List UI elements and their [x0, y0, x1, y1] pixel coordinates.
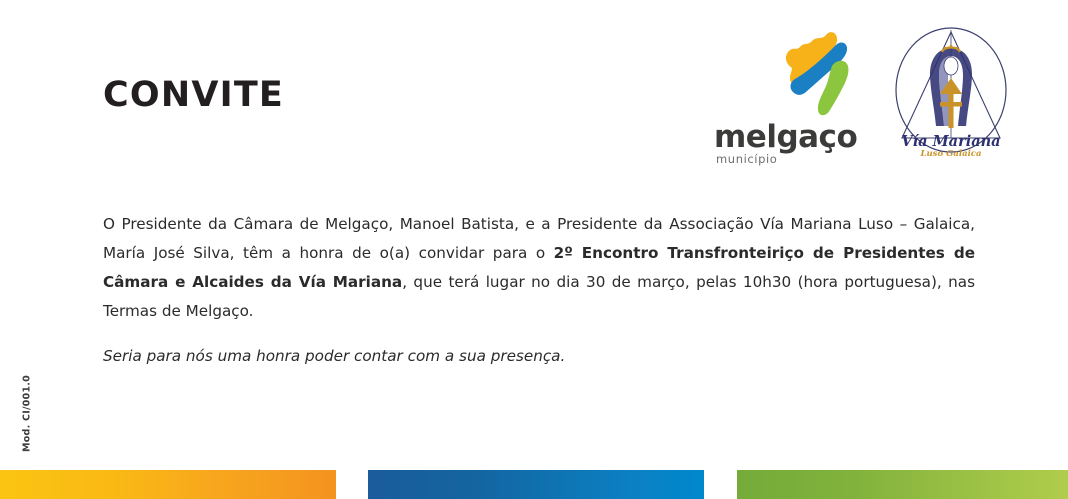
via-mariana-emblem-icon: Vía Mariana Luso Galaica [892, 26, 1010, 159]
via-mariana-wordmark: Vía Mariana [901, 133, 1000, 150]
melgaco-subtitle: município [716, 154, 777, 166]
footer-bar-blue [368, 470, 704, 499]
invitation-paragraph-1: O Presidente da Câmara de Melgaço, Manoe… [103, 210, 975, 326]
melgaco-wordmark: melgaço [714, 122, 857, 153]
invitation-page: CONVITE melgaço município [0, 0, 1068, 499]
logo-row: melgaço município [714, 26, 1010, 159]
invitation-body: O Presidente da Câmara de Melgaço, Manoe… [103, 210, 975, 371]
via-mariana-subtitle: Luso Galaica [920, 149, 982, 159]
invitation-paragraph-2: Seria para nós uma honra poder contar co… [103, 342, 975, 371]
footer-bar-green [737, 470, 1068, 499]
footer-bar-yellow-orange [0, 470, 336, 499]
melgaco-municipality-logo: melgaço município [714, 26, 864, 154]
melgaco-map-icon [762, 26, 864, 131]
via-mariana-logo: Vía Mariana Luso Galaica [892, 26, 1010, 159]
page-title: CONVITE [103, 78, 284, 113]
document-code: Mod. CI/001.0 [22, 369, 33, 459]
